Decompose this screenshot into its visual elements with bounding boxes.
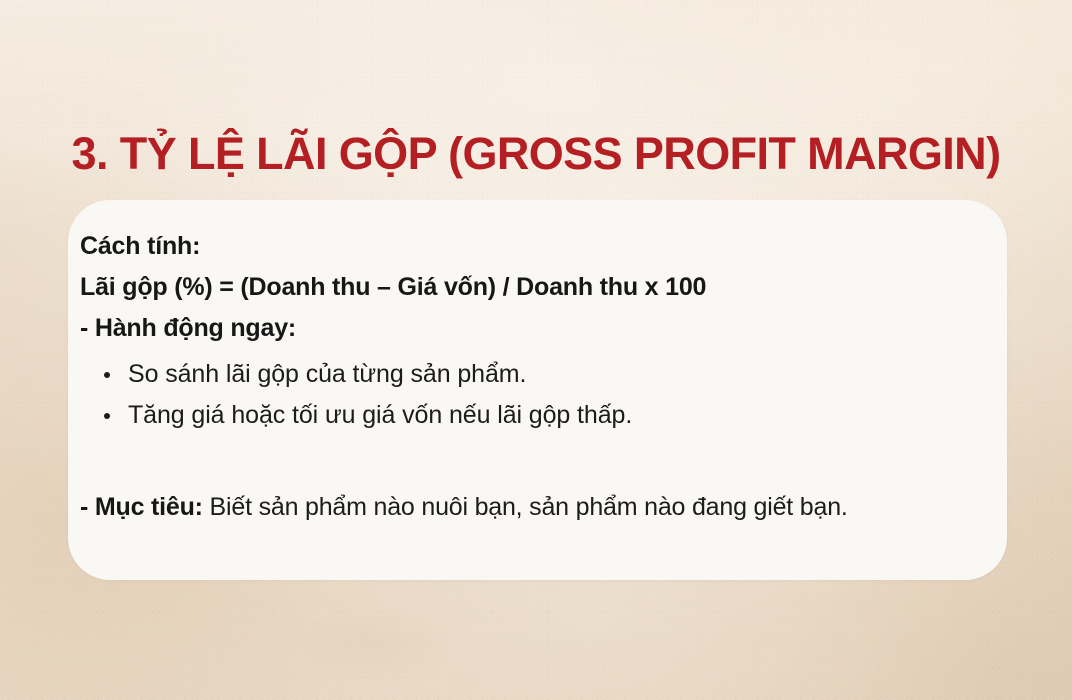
content-card: Cách tính: Lãi gộp (%) = (Doanh thu – Gi… — [68, 200, 1007, 580]
gross-margin-formula: Lãi gộp (%) = (Doanh thu – Giá vốn) / Do… — [80, 267, 983, 308]
list-item-label: Tăng giá hoặc tối ưu giá vốn nếu lãi gộp… — [128, 401, 632, 429]
list-item: Tăng giá hoặc tối ưu giá vốn nếu lãi gộp… — [80, 395, 983, 436]
how-to-calculate-heading: Cách tính: — [80, 226, 983, 267]
goal-text: Biết sản phẩm nào nuôi bạn, sản phẩm nào… — [203, 493, 848, 521]
bullet-dot-icon — [104, 413, 110, 419]
goal-label: - Mục tiêu: — [80, 493, 203, 521]
list-item-label: So sánh lãi gộp của từng sản phẩm. — [128, 360, 526, 388]
action-now-label: - Hành động ngay: — [80, 308, 983, 349]
bullet-dot-icon — [104, 372, 110, 378]
slide-canvas: 3. TỶ LỆ LÃI GỘP (GROSS PROFIT MARGIN) C… — [0, 0, 1072, 700]
content-card-body: Cách tính: Lãi gộp (%) = (Doanh thu – Gi… — [80, 226, 983, 564]
action-bullet-list: So sánh lãi gộp của từng sản phẩm. Tăng … — [80, 354, 983, 436]
list-item: So sánh lãi gộp của từng sản phẩm. — [80, 354, 983, 395]
goal-line: - Mục tiêu: Biết sản phẩm nào nuôi bạn, … — [80, 488, 983, 526]
slide-title: 3. TỶ LỆ LÃI GỘP (GROSS PROFIT MARGIN) — [0, 130, 1072, 179]
